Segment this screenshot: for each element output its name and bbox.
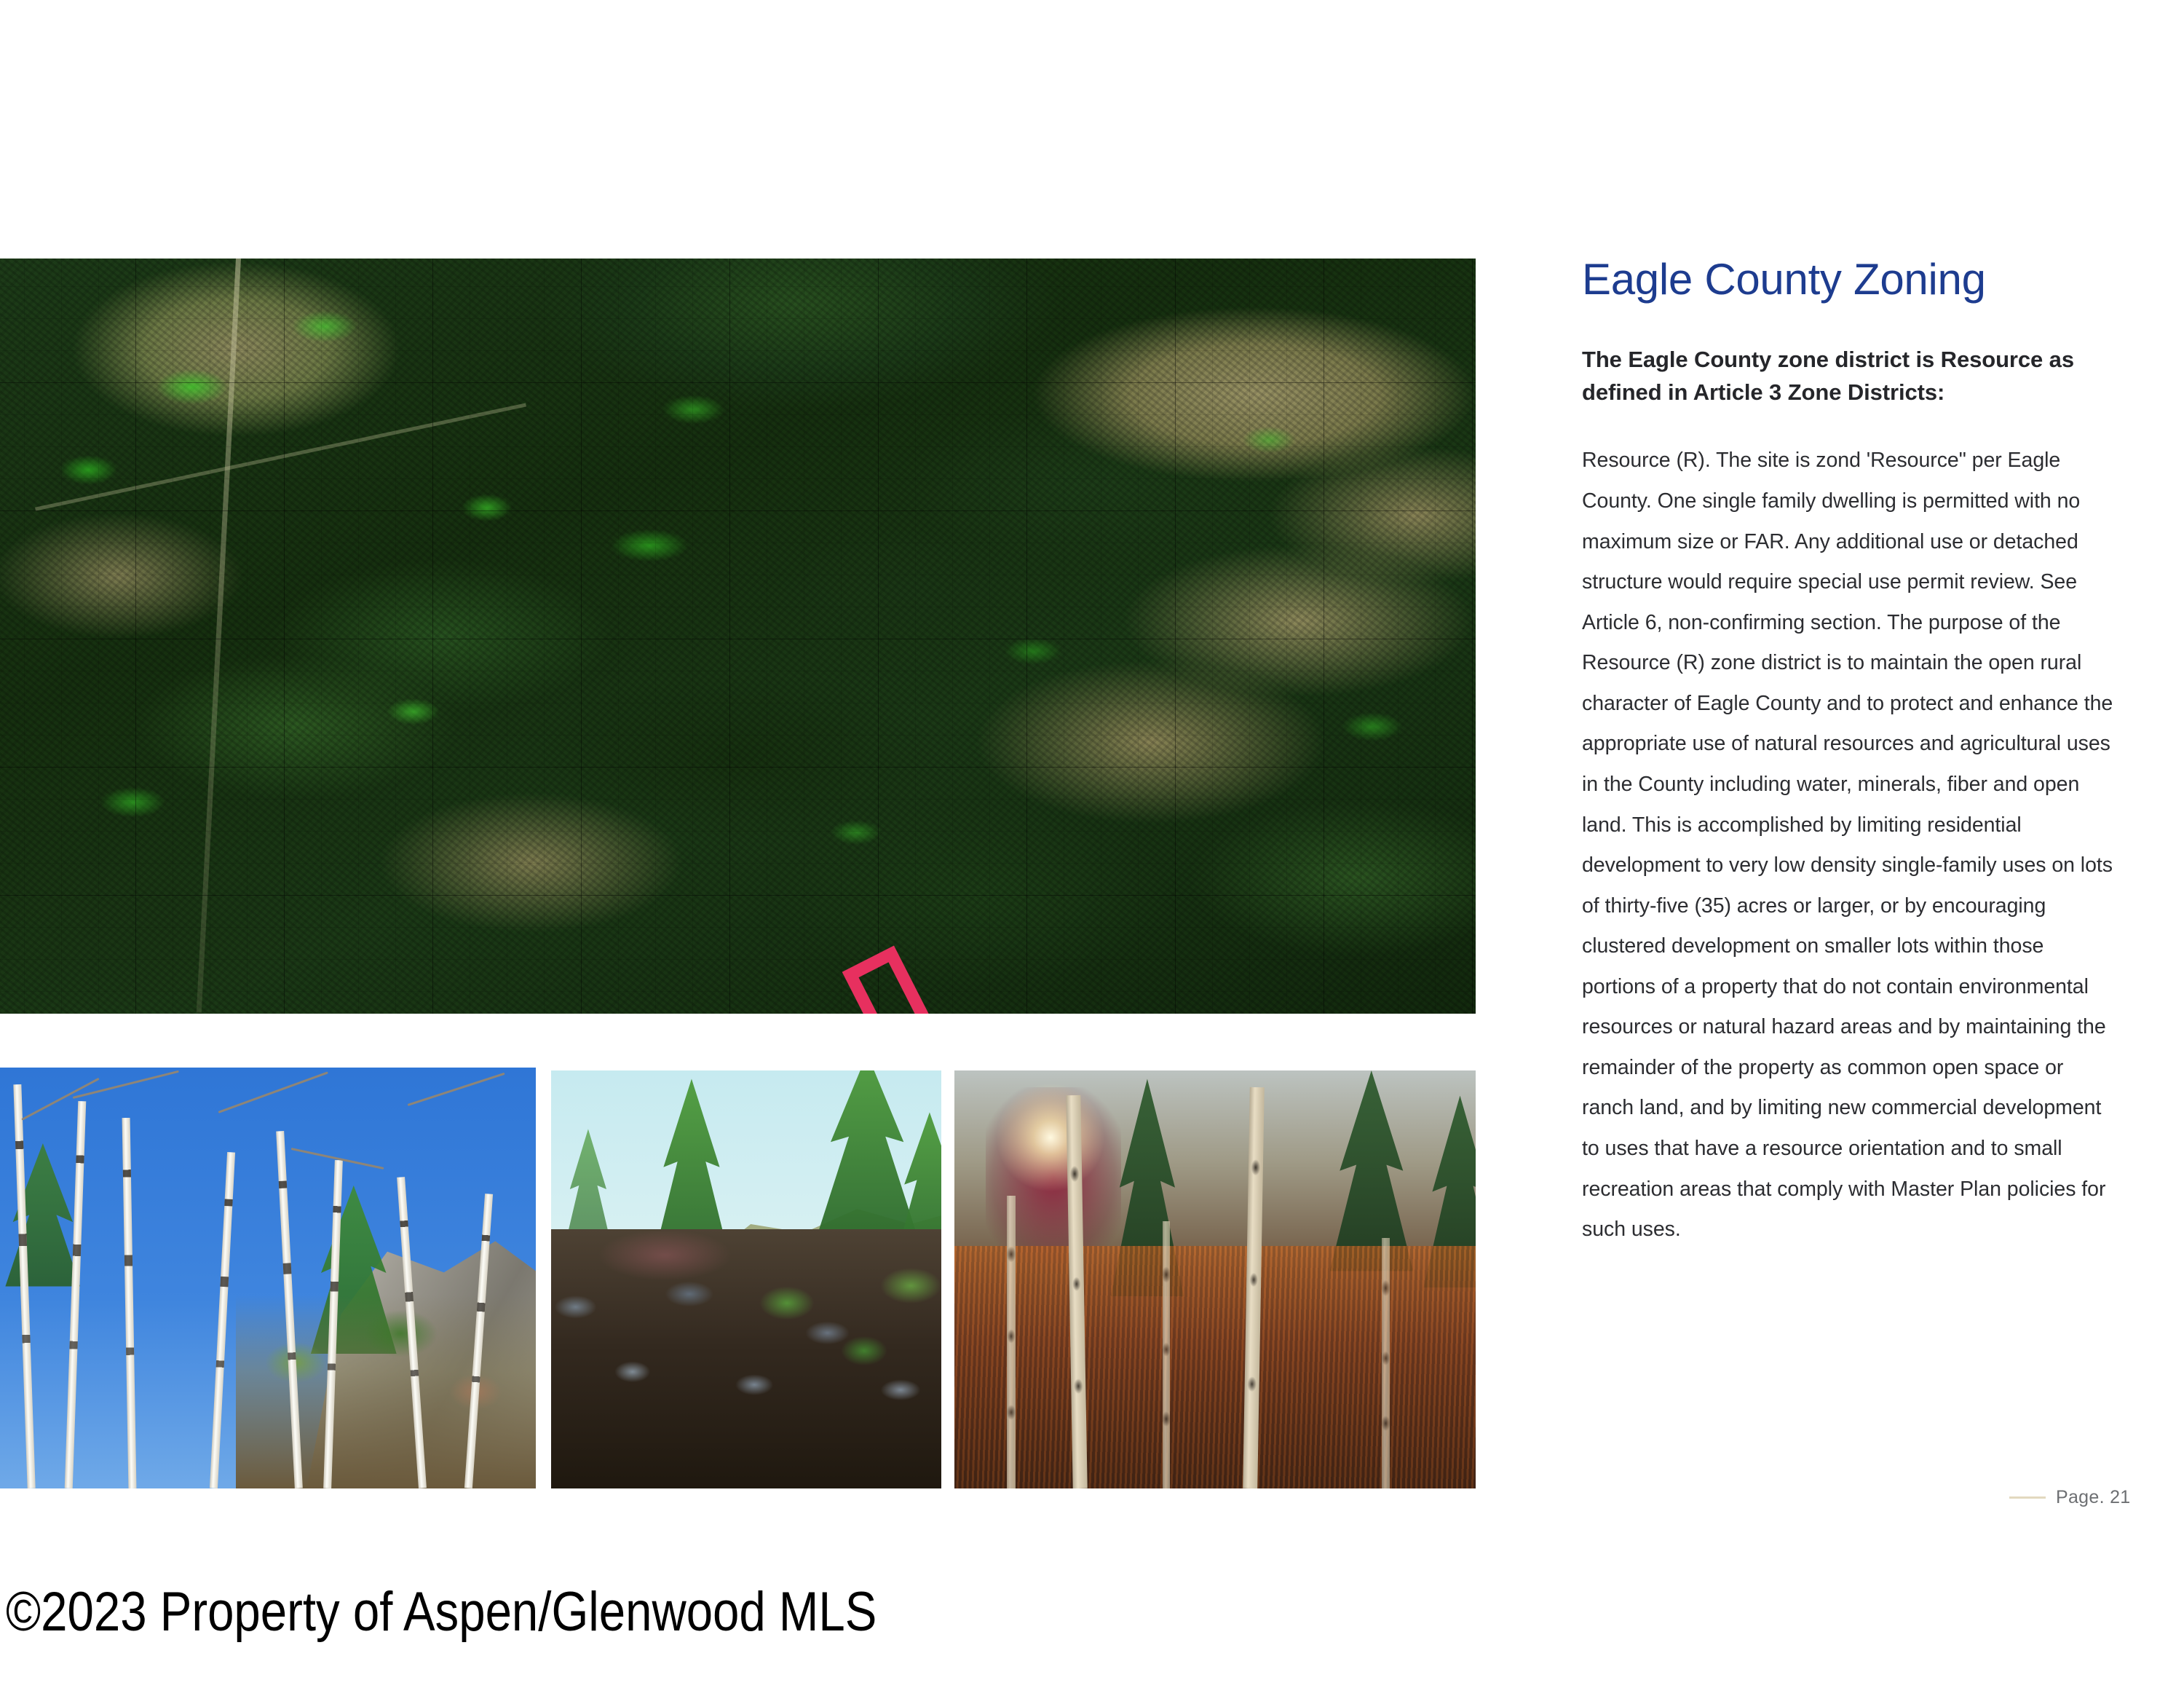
- aerial-parcel-map: [0, 259, 1476, 1014]
- map-survey-grid-icon: [0, 259, 1476, 1014]
- map-canvas: [0, 259, 1476, 1014]
- sun-flare-icon: [996, 1083, 1105, 1192]
- autumn-grass-layer: [954, 1246, 1476, 1488]
- photo-autumn-aspen-forest: [954, 1070, 1476, 1488]
- page-title: Eagle County Zoning: [1582, 256, 2121, 303]
- photo-aspen-grove-rock-outcrop: [0, 1068, 536, 1488]
- zoning-text-column: Eagle County Zoning The Eagle County zon…: [1582, 256, 2121, 1250]
- photo-rocky-slope-conifers: [551, 1070, 941, 1488]
- aspen-trunk: [1163, 1221, 1170, 1488]
- aspen-trunk: [1382, 1238, 1390, 1488]
- copyright-watermark: ©2023 Property of Aspen/Glenwood MLS: [6, 1580, 877, 1644]
- aspen-trunk: [1007, 1196, 1016, 1488]
- footer-dash-icon: [2009, 1496, 2046, 1499]
- zoning-body-text: Resource (R). The site is zond 'Resource…: [1582, 441, 2121, 1250]
- zoning-subheading: The Eagle County zone district is Resour…: [1582, 344, 2121, 409]
- page-number-label: Page. 21: [2056, 1487, 2131, 1508]
- document-page: Eagle County Zoning The Eagle County zon…: [0, 0, 2184, 1688]
- understory-shrub-layer: [236, 1295, 536, 1488]
- shrub-layer: [738, 1238, 941, 1455]
- page-footer: Page. 21: [2009, 1487, 2131, 1508]
